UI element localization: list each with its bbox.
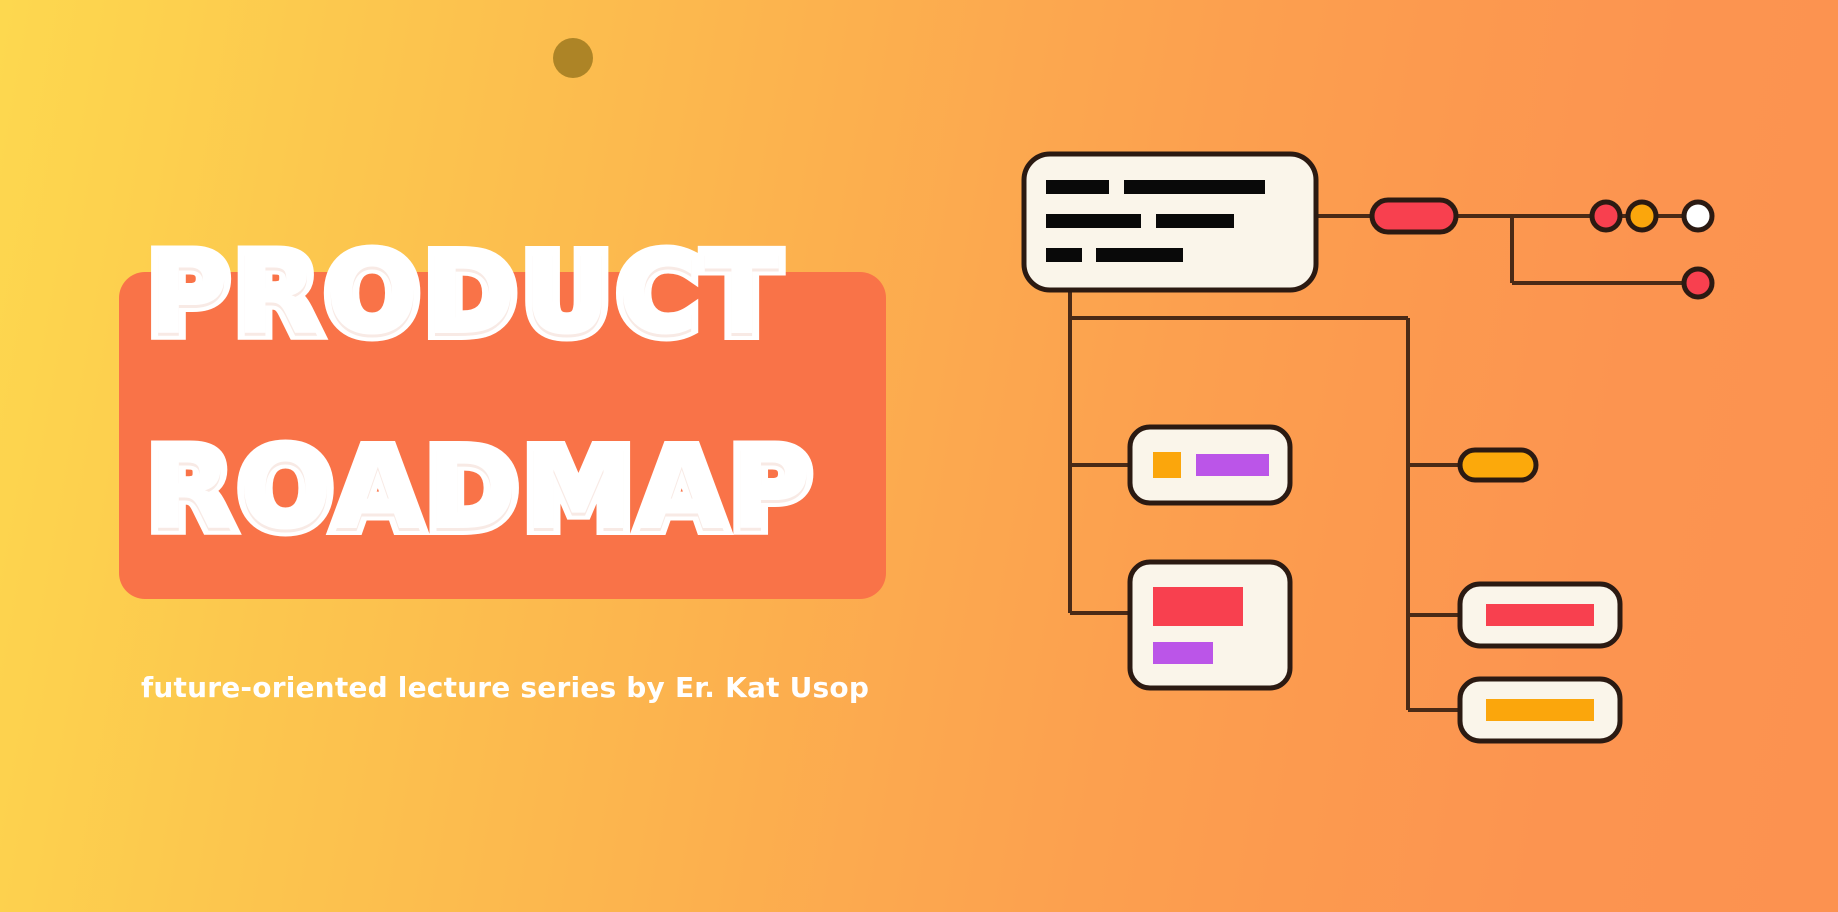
node-root-card[interactable] <box>1024 154 1316 290</box>
title-line-product: PRODUCT <box>148 240 785 350</box>
node-card-right-orange[interactable] <box>1460 679 1620 741</box>
root-card-bar-1a <box>1046 180 1109 194</box>
subtitle: future-oriented lecture series by Er. Ka… <box>141 671 869 704</box>
root-card-bar-3a <box>1046 248 1082 262</box>
root-card-bar-2b <box>1156 214 1234 228</box>
node-pill-amber-mid[interactable] <box>1460 450 1536 480</box>
card-bottom-left-chip-purple <box>1153 642 1213 664</box>
card-mid-left-chip-purple <box>1196 454 1269 476</box>
pill-amber-mid-body <box>1460 450 1536 480</box>
node-pill-red-top[interactable] <box>1372 200 1456 232</box>
root-card-bar-3b <box>1096 248 1183 262</box>
dot-amber-1-body <box>1628 202 1656 230</box>
node-dot-red-1[interactable] <box>1592 202 1620 230</box>
dot-red-1-body <box>1592 202 1620 230</box>
card-bottom-left-chip-red <box>1153 587 1243 626</box>
roadmap-diagram-svg <box>1020 150 1740 750</box>
root-card-bar-1b <box>1124 180 1265 194</box>
node-card-mid-left[interactable] <box>1130 427 1290 503</box>
pill-red-top-body <box>1372 200 1456 232</box>
card-right-orange-chip <box>1486 699 1594 721</box>
node-card-right-red[interactable] <box>1460 584 1620 646</box>
roadmap-diagram <box>1020 150 1740 750</box>
title-line-roadmap: ROADMAP <box>148 435 817 545</box>
node-dot-white-1[interactable] <box>1684 202 1712 230</box>
card-mid-left-chip-orange <box>1153 452 1181 478</box>
dot-white-1-body <box>1684 202 1712 230</box>
node-dot-amber-1[interactable] <box>1628 202 1656 230</box>
hero-section: PRODUCT ROADMAP future-oriented lecture … <box>0 0 960 912</box>
node-card-bottom-left[interactable] <box>1130 562 1290 688</box>
node-dot-red-2[interactable] <box>1684 269 1712 297</box>
card-right-red-chip <box>1486 604 1594 626</box>
root-card-bar-2a <box>1046 214 1141 228</box>
dot-red-2-body <box>1684 269 1712 297</box>
